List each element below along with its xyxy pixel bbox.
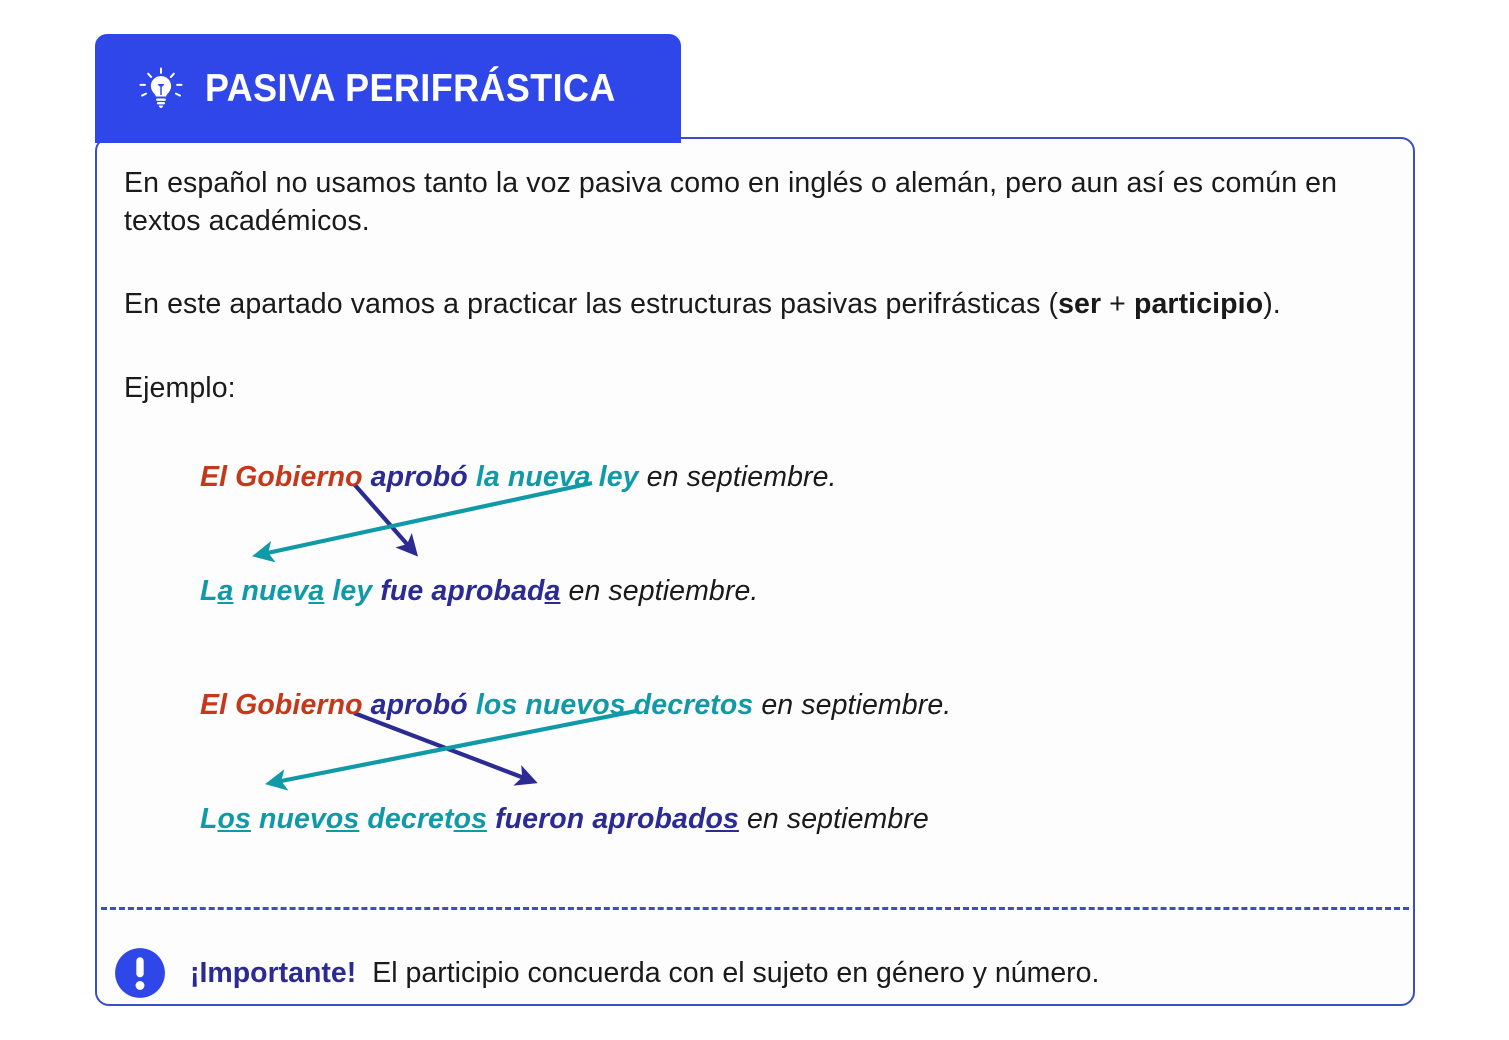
structure-bold-participio: participio [1134,288,1263,320]
structure-paragraph: En este apartado vamos a practicar las e… [124,286,1383,324]
example-passive-singular: La nueva ley fue aprobada en septiembre. [200,575,758,608]
example-segment-verb: fueron aprobad [495,803,705,835]
important-label: ¡Importante! [190,957,356,990]
verb-arrow-1 [354,484,414,552]
page-title: PASIVA PERIFRÁSTICA [205,67,616,111]
example-segment-verb: aprobó [371,689,476,721]
card-body: En español no usamos tanto la voz pasiva… [95,137,1415,1006]
structure-bold-ser: ser [1058,288,1101,320]
example-segment-object-ending: a [308,575,324,607]
example-label: Ejemplo: [124,370,1383,408]
example-segment-object: L [200,575,218,607]
example-active-singular: El Gobierno aprobó la nueva ley en septi… [200,461,837,494]
lightbulb-icon [139,67,183,111]
example-segment-object-ending: os [218,803,251,835]
example-segment-plain: en septiembre. [639,461,837,493]
example-segment-subject: El Gobierno [200,689,371,721]
example-segment-object: los nuevos decretos [476,689,754,721]
verb-arrow-2 [354,713,532,781]
lesson-card: PASIVA PERIFRÁSTICA En español no usamos… [95,34,1415,1006]
example-segment-subject: El Gobierno [200,461,371,493]
example-segment-object: la nueva ley [476,461,639,493]
example-segment-plain: en septiembre. [753,689,951,721]
example-segment-object-ending: os [326,803,359,835]
example-segment-object: ley [324,575,380,607]
example-segment-object-ending: os [454,803,487,835]
structure-suffix: ). [1263,288,1281,320]
example-passive-plural: Los nuevos decretos fueron aprobados en … [200,803,929,836]
example-segment-object: L [200,803,218,835]
example-segment-verb-ending: os [705,803,738,835]
important-text: El participio concuerda con el sujeto en… [372,957,1099,990]
exclamation-circle-icon [114,947,166,999]
example-segment-plain: en septiembre [739,803,929,835]
example-segment-object-ending: a [218,575,234,607]
example-segment-verb: aprobó [371,461,476,493]
structure-plus: + [1101,288,1134,320]
structure-prefix: En este apartado vamos a practicar las e… [124,288,1058,320]
example-segment-space [487,803,495,835]
important-note: ¡Importante! El participio concuerda con… [114,947,1099,999]
example-segment-object: nuev [251,803,326,835]
example-active-plural: El Gobierno aprobó los nuevos decretos e… [200,689,951,722]
example-segment-verb: fue aprobad [380,575,544,607]
intro-paragraph: En español no usamos tanto la voz pasiva… [124,165,1383,240]
transformation-arrows [124,439,1392,859]
example-segment-verb-ending: a [545,575,561,607]
card-header-tab: PASIVA PERIFRÁSTICA [95,34,681,143]
example-segment-object: nuev [233,575,308,607]
section-divider [101,907,1409,910]
examples-block: El Gobierno aprobó la nueva ley en septi… [124,439,1383,859]
example-segment-object: decret [359,803,453,835]
example-segment-plain: en septiembre. [560,575,758,607]
